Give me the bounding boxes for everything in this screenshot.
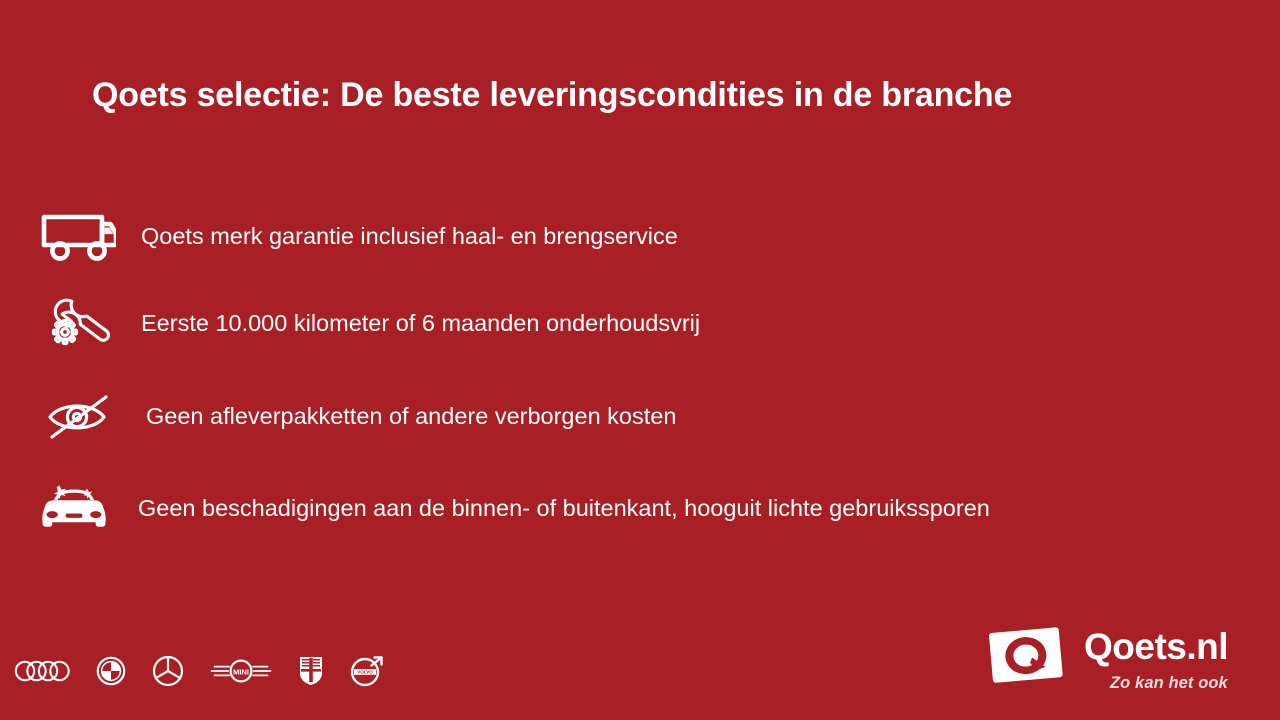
qoets-wordmark: Qoets.nl [1084,628,1228,665]
brand-logo-audi [14,650,70,692]
slide-canvas: Qoets selectie: De beste leveringscondit… [0,0,1280,720]
feature-label: Eerste 10.000 kilometer of 6 maanden ond… [141,312,700,336]
wrench-gear-icon [32,293,124,355]
svg-text:VOLVO: VOLVO [357,670,373,675]
delivery-truck-icon [32,206,124,268]
brand-logo-volvo: VOLVO [350,650,384,692]
svg-text:MINI: MINI [233,667,249,676]
damaged-car-icon [28,478,120,540]
brand-logo-bmw [96,650,126,692]
qoets-logo: Qoets.nl Zo kan het ook [988,620,1246,696]
feature-label: Qoets merk garantie inclusief haal- en b… [141,225,678,249]
feature-label: Geen beschadigingen aan de binnen- of bu… [138,497,990,521]
brand-logo-mercedes-benz [152,650,184,692]
feature-row: Qoets merk garantie inclusief haal- en b… [0,205,678,269]
qoets-q-bubble-icon [988,622,1066,692]
page-title: Qoets selectie: De beste leveringscondit… [92,76,1012,115]
feature-row: Eerste 10.000 kilometer of 6 maanden ond… [0,292,700,356]
brand-logo-strip: MINI [14,650,384,692]
brand-logo-mini: MINI [210,650,272,692]
qoets-tagline: Zo kan het ook [1110,675,1228,692]
eye-slash-icon [34,386,126,448]
feature-label: Geen afleverpakketten of andere verborge… [146,405,676,429]
feature-row: Geen beschadigingen aan de binnen- of bu… [0,477,990,541]
feature-row: Geen afleverpakketten of andere verborge… [0,385,676,449]
brand-logo-porsche [298,650,324,692]
